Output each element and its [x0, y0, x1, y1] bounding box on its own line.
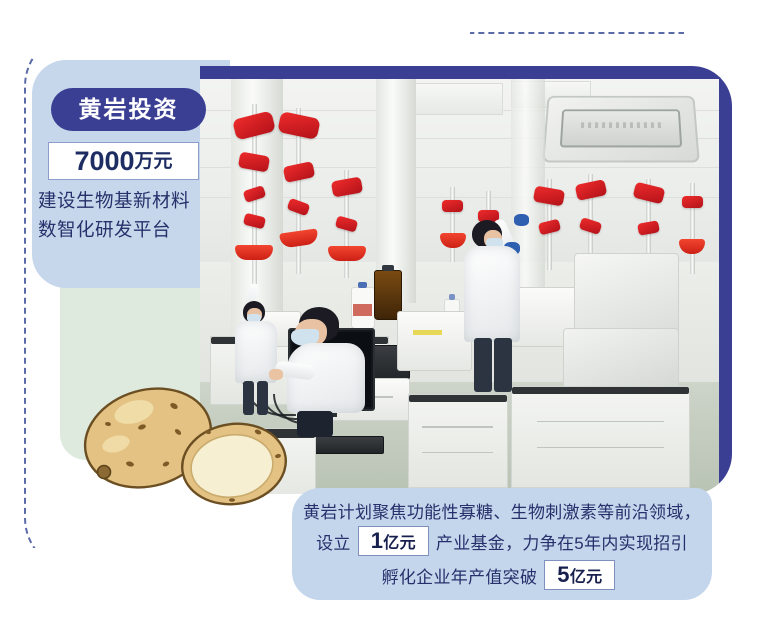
photo-right-border [719, 66, 732, 494]
bottom-line-3-prefix: 孵化企业年产值突破 [382, 563, 538, 588]
bottom-line-1-text: 黄岩计划聚焦功能性寡糖、生物刺激素等前沿领域， [303, 498, 701, 523]
red-extractor-arm-icon [273, 108, 325, 274]
laboratory-incubator [574, 253, 680, 338]
investment-badge: 黄岩投资 [51, 88, 206, 131]
bottom-line-2-suffix: 产业基金，力争在5年内实现招引 [436, 529, 688, 554]
frame-mask-top-left [0, 0, 470, 56]
bottom-line-2: 设立 1亿元 产业基金，力争在5年内实现招引 [292, 524, 712, 558]
output-value-number: 5 [557, 564, 570, 586]
red-extractor-arm-icon [330, 170, 364, 278]
photo-top-border [200, 66, 732, 79]
bottom-line-2-prefix: 设立 [316, 529, 351, 554]
fund-amount-box: 1亿元 [358, 526, 429, 556]
output-value-box: 5亿元 [544, 560, 615, 590]
potato-illustration [82, 372, 292, 507]
fund-amount-unit: 亿元 [383, 536, 416, 552]
red-extractor-arm-icon [231, 104, 277, 295]
poster-canvas: 黄岩投资 7000万元 建设生物基新材料 数智化研发平台 黄岩计划聚焦功能性寡糖… [0, 0, 768, 632]
bottom-info-panel: 黄岩计划聚焦功能性寡糖、生物刺激素等前沿领域， 设立 1亿元 产业基金，力争在5… [292, 488, 712, 600]
fund-amount-value: 1 [371, 530, 384, 552]
investment-amount-box: 7000万元 [48, 142, 199, 180]
left-desc-line-2: 数智化研发平台 [38, 215, 218, 244]
left-panel-description: 建设生物基新材料 数智化研发平台 [38, 186, 218, 244]
bottom-line-1: 黄岩计划聚焦功能性寡糖、生物刺激素等前沿领域， [292, 496, 712, 524]
researcher-with-pipette [460, 212, 556, 469]
investment-amount-value: 7000 [74, 148, 134, 175]
output-value-unit: 亿元 [570, 570, 603, 586]
investment-amount-unit: 万元 [135, 152, 173, 171]
red-extractor-arm-icon [677, 183, 707, 274]
bottom-line-3: 孵化企业年产值突破 5亿元 [292, 558, 712, 592]
investment-badge-label: 黄岩投资 [79, 98, 179, 121]
researcher-at-computer [273, 307, 403, 494]
ceiling-air-conditioner-icon [542, 96, 700, 163]
left-desc-line-1: 建设生物基新材料 [38, 186, 218, 215]
